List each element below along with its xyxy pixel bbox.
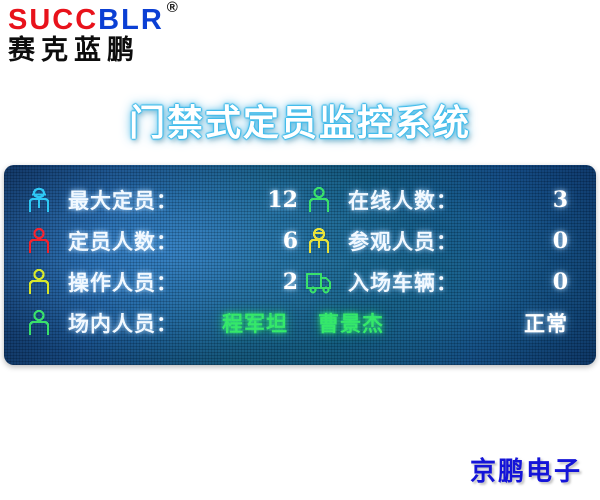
person-helmet-icon: [304, 225, 334, 257]
led-cell-vehicle-count: 入场车辆： 0: [304, 266, 580, 298]
led-label: 定员人数：: [68, 226, 178, 256]
led-label: 参观人员：: [348, 226, 458, 256]
onsite-names-list: 程军坦 曹景杰: [178, 308, 524, 338]
led-label: 在线人数：: [348, 185, 458, 215]
person-icon: [304, 184, 334, 216]
truck-icon: [304, 266, 334, 298]
brand-wordmark: SUCCBLR®: [8, 6, 228, 35]
led-value: 0: [553, 269, 580, 295]
led-display-panel: 最大定员： 12 在线人数： 3: [4, 165, 596, 365]
led-row: 定员人数： 6 参观人员： 0: [24, 220, 580, 261]
brand-wordmark-blue: BLR: [98, 4, 164, 36]
status-badge: 正常: [524, 308, 580, 338]
footer-company-name: 京鹏电子: [470, 451, 582, 488]
brand-chinese-name: 赛克蓝鹏: [8, 37, 228, 65]
led-row-onsite-personnel: 场内人员： 程军坦 曹景杰 正常: [24, 302, 580, 343]
person-icon: [24, 307, 54, 339]
registered-trademark-icon: ®: [167, 0, 178, 16]
led-cell-operator-count: 操作人员： 2: [24, 266, 304, 298]
led-label: 操作人员：: [68, 267, 178, 297]
led-label: 场内人员：: [68, 308, 178, 338]
person-cap-icon: [24, 184, 54, 216]
led-cell-online-count: 在线人数： 3: [304, 184, 580, 216]
led-value: 2: [283, 269, 304, 295]
led-value: 12: [267, 187, 304, 213]
brand-wordmark-red: SUCC: [8, 4, 98, 36]
led-cell-max-capacity: 最大定员： 12: [24, 184, 304, 216]
led-value: 6: [283, 228, 304, 254]
led-label: 最大定员：: [68, 185, 178, 215]
person-icon: [24, 225, 54, 257]
person-icon: [24, 266, 54, 298]
led-value: 3: [553, 187, 580, 213]
list-item: 程军坦: [222, 308, 288, 338]
led-row: 最大定员： 12 在线人数： 3: [24, 179, 580, 220]
page-title: 门禁式定员监控系统: [0, 94, 600, 146]
led-label: 入场车辆：: [348, 267, 458, 297]
led-value: 0: [553, 228, 580, 254]
brand-logo: SUCCBLR® 赛克蓝鹏: [8, 6, 228, 65]
led-content-grid: 最大定员： 12 在线人数： 3: [4, 165, 596, 351]
led-cell-registered-count: 定员人数： 6: [24, 225, 304, 257]
list-item: 曹景杰: [318, 308, 384, 338]
led-cell-visitor-count: 参观人员： 0: [304, 225, 580, 257]
led-row: 操作人员： 2 入场车辆： 0: [24, 261, 580, 302]
